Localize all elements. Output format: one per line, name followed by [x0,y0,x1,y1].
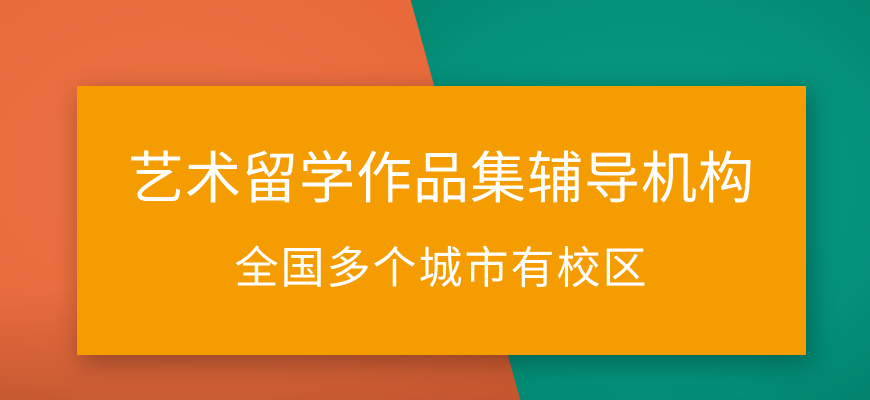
headline-card: 艺术留学作品集辅导机构 全国多个城市有校区 [77,86,806,355]
banner-subline: 全国多个城市有校区 [235,247,649,291]
banner-headline: 艺术留学作品集辅导机构 [128,151,755,207]
promo-banner: 艺术留学作品集辅导机构 全国多个城市有校区 [0,0,870,400]
